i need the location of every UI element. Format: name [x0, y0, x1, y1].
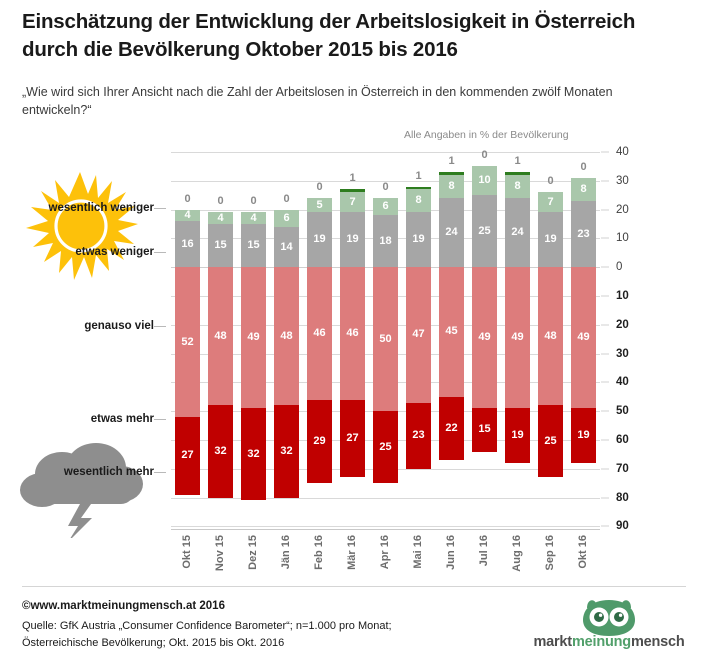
logo-part-markt: markt: [533, 634, 572, 650]
bar-column[interactable]: 19504629: [307, 152, 332, 529]
bar-segment: 19: [571, 408, 596, 463]
bar-segment: 45: [439, 267, 464, 397]
bar-column[interactable]: 14604832: [274, 152, 299, 529]
x-axis-label: Jul 16: [478, 535, 490, 566]
axis-tick-mark: [601, 353, 609, 354]
axis-tick-mark: [601, 238, 609, 239]
axis-tick-mark: [601, 324, 609, 325]
axis-tick-label: 40: [616, 146, 629, 158]
bar-segment: [340, 189, 365, 192]
category-label-etwas-weniger: etwas weniger: [75, 246, 154, 258]
axis-tick-mark: [601, 209, 609, 210]
bar-segment: 4: [241, 212, 266, 224]
axis-tick-mark: [601, 382, 609, 383]
axis-tick-mark: [601, 267, 609, 268]
bar-segment: 14: [274, 227, 299, 267]
bar-column[interactable]: 19814723: [406, 152, 431, 529]
bar-segment: 49: [241, 267, 266, 408]
x-axis-label: Mai 16: [412, 535, 424, 569]
bar-segment: 32: [208, 405, 233, 497]
bar-top-value-label: 1: [439, 155, 464, 167]
axis-tick-label: 10: [616, 290, 629, 302]
axis-tick-label: 50: [616, 405, 629, 417]
bar-top-value-label: 0: [538, 175, 563, 187]
bar-segment: 27: [175, 417, 200, 495]
bar-column[interactable]: 23804919: [571, 152, 596, 529]
source-line-2: Österreichische Bevölkerung; Okt. 2015 b…: [22, 635, 482, 652]
bar-segment: 5: [307, 198, 332, 212]
bar-segment: 7: [340, 192, 365, 212]
bar-column[interactable]: 16405227: [175, 152, 200, 529]
axis-tick-label: 90: [616, 520, 629, 532]
x-axis-label: Dez 15: [247, 535, 259, 570]
bar-column[interactable]: 24814919: [505, 152, 530, 529]
bar-segment: 10: [472, 166, 497, 195]
bar-segment: 8: [439, 175, 464, 198]
category-tick: [154, 208, 166, 209]
bar-segment: 4: [175, 210, 200, 222]
bar-segment: 29: [307, 400, 332, 484]
category-label-wesentlich-mehr: wesentlich mehr: [64, 466, 154, 478]
source-text: Quelle: GfK Austria „Consumer Confidence…: [22, 618, 482, 651]
bar-segment: 4: [208, 212, 233, 224]
bar-segment: 48: [208, 267, 233, 405]
x-axis-label: Apr 16: [379, 535, 391, 569]
bar-segment: 22: [439, 397, 464, 460]
bar-segment: 50: [373, 267, 398, 411]
units-note: Alle Angaben in % der Bevölkerung: [404, 129, 569, 141]
category-tick: [154, 472, 166, 473]
axis-tick-mark: [601, 468, 609, 469]
axis-tick-label: 30: [616, 348, 629, 360]
x-axis-label: Jän 16: [280, 535, 292, 569]
axis-tick-mark: [601, 440, 609, 441]
bar-segment: 48: [538, 267, 563, 405]
right-value-axis: 403020100102030405060708090: [606, 152, 656, 532]
bar-top-value-label: 0: [274, 193, 299, 205]
source-line-1: Quelle: GfK Austria „Consumer Confidence…: [22, 618, 482, 635]
bar-segment: 23: [571, 201, 596, 267]
bar-segment: 19: [340, 212, 365, 267]
bar-segment: 19: [538, 212, 563, 267]
bar-top-value-label: 0: [373, 181, 398, 193]
axis-tick-mark: [601, 152, 609, 153]
bar-segment: 6: [274, 210, 299, 227]
category-label-etwas-mehr: etwas mehr: [91, 413, 154, 425]
bar-segment: 15: [472, 408, 497, 451]
x-axis-label: Okt 16: [577, 535, 589, 569]
x-axis: Okt 15Nov 15Dez 15Jän 16Feb 16Mär 16Apr …: [171, 529, 600, 581]
category-tick: [154, 326, 166, 327]
category-tick: [154, 419, 166, 420]
bar-segment: [406, 187, 431, 190]
bar-segment: 49: [472, 267, 497, 408]
bar-segment: 27: [340, 400, 365, 478]
bar-segment: 25: [538, 405, 563, 477]
bar-segment: 15: [241, 224, 266, 267]
logo-wordmark: marktmeinungmensch: [524, 634, 694, 650]
bar-column[interactable]: 19704825: [538, 152, 563, 529]
bar-segment: 52: [175, 267, 200, 417]
x-axis-label: Nov 15: [214, 535, 226, 571]
category-legend: wesentlich weniger etwas weniger genauso…: [0, 0, 166, 660]
bar-segment: 46: [340, 267, 365, 399]
copyright-text: ©www.marktmeinungmensch.at 2016: [22, 600, 225, 612]
axis-tick-label: 60: [616, 434, 629, 446]
bar-segment: 6: [373, 198, 398, 215]
bar-top-value-label: 0: [241, 195, 266, 207]
footer-divider: [22, 586, 686, 587]
bar-column[interactable]: 19714627: [340, 152, 365, 529]
bar-segment: 23: [406, 403, 431, 469]
axis-tick-label: 40: [616, 376, 629, 388]
axis-tick-label: 70: [616, 463, 629, 475]
bar-column[interactable]: 15404832: [208, 152, 233, 529]
bar-top-value-label: 1: [406, 170, 431, 182]
bar-segment: 15: [208, 224, 233, 267]
bar-segment: 25: [472, 195, 497, 267]
axis-tick-label: 30: [616, 175, 629, 187]
bar-top-value-label: 0: [472, 149, 497, 161]
bar-segment: 19: [505, 408, 530, 463]
x-axis-label: Jun 16: [445, 535, 457, 570]
bar-segment: 16: [175, 221, 200, 267]
bar-segment: [505, 172, 530, 175]
axis-tick-mark: [601, 180, 609, 181]
bar-column[interactable]: 251004915: [472, 152, 497, 529]
x-axis-label: Sep 16: [544, 535, 556, 570]
bar-column[interactable]: 18605025: [373, 152, 398, 529]
bar-segment: 47: [406, 267, 431, 402]
category-label-wesentlich-weniger: wesentlich weniger: [49, 202, 154, 214]
axis-tick-label: 80: [616, 492, 629, 504]
x-axis-line: [171, 529, 600, 530]
x-axis-label: Feb 16: [313, 535, 325, 570]
bar-top-value-label: 0: [175, 193, 200, 205]
x-axis-label: Okt 15: [181, 535, 193, 569]
bar-segment: 49: [505, 267, 530, 408]
category-tick: [154, 252, 166, 253]
bar-top-value-label: 0: [307, 181, 332, 193]
bar-segment: 25: [373, 411, 398, 483]
axis-tick-label: 20: [616, 319, 629, 331]
bar-segment: 19: [406, 212, 431, 267]
bar-segment: 46: [307, 267, 332, 399]
bar-segment: [439, 172, 464, 175]
bar-segment: 48: [274, 267, 299, 405]
category-label-genauso-viel: genauso viel: [84, 320, 154, 332]
logo-part-mensch: mensch: [631, 634, 685, 650]
bar-segment: 24: [505, 198, 530, 267]
bar-segment: 24: [439, 198, 464, 267]
bar-segment: 18: [373, 215, 398, 267]
brand-logo[interactable]: marktmeinungmensch: [524, 598, 694, 656]
axis-tick-mark: [601, 296, 609, 297]
axis-tick-mark: [601, 411, 609, 412]
bar-segment: 7: [538, 192, 563, 212]
x-axis-label: Aug 16: [511, 535, 523, 572]
axis-tick-label: 20: [616, 204, 629, 216]
bar-column[interactable]: 24814522: [439, 152, 464, 529]
axis-tick-label: 10: [616, 232, 629, 244]
bar-top-value-label: 0: [208, 195, 233, 207]
bar-column[interactable]: 15404932: [241, 152, 266, 529]
axis-tick-mark: [601, 497, 609, 498]
bar-top-value-label: 0: [571, 161, 596, 173]
bar-segment: 32: [274, 405, 299, 497]
bar-segment: 19: [307, 212, 332, 267]
bar-segment: 32: [241, 408, 266, 500]
chart-plot-area: 1640522715404832154049321460483219504629…: [171, 152, 600, 529]
bar-segment: 8: [571, 178, 596, 201]
bar-segment: 8: [505, 175, 530, 198]
owl-icon: [524, 598, 694, 636]
x-axis-label: Mär 16: [346, 535, 358, 570]
bar-top-value-label: 1: [340, 172, 365, 184]
bar-segment: 49: [571, 267, 596, 408]
logo-part-meinung: meinung: [572, 634, 631, 650]
axis-tick-mark: [601, 526, 609, 527]
axis-tick-label: 0: [616, 261, 622, 273]
bar-segment: 8: [406, 189, 431, 212]
bar-top-value-label: 1: [505, 155, 530, 167]
